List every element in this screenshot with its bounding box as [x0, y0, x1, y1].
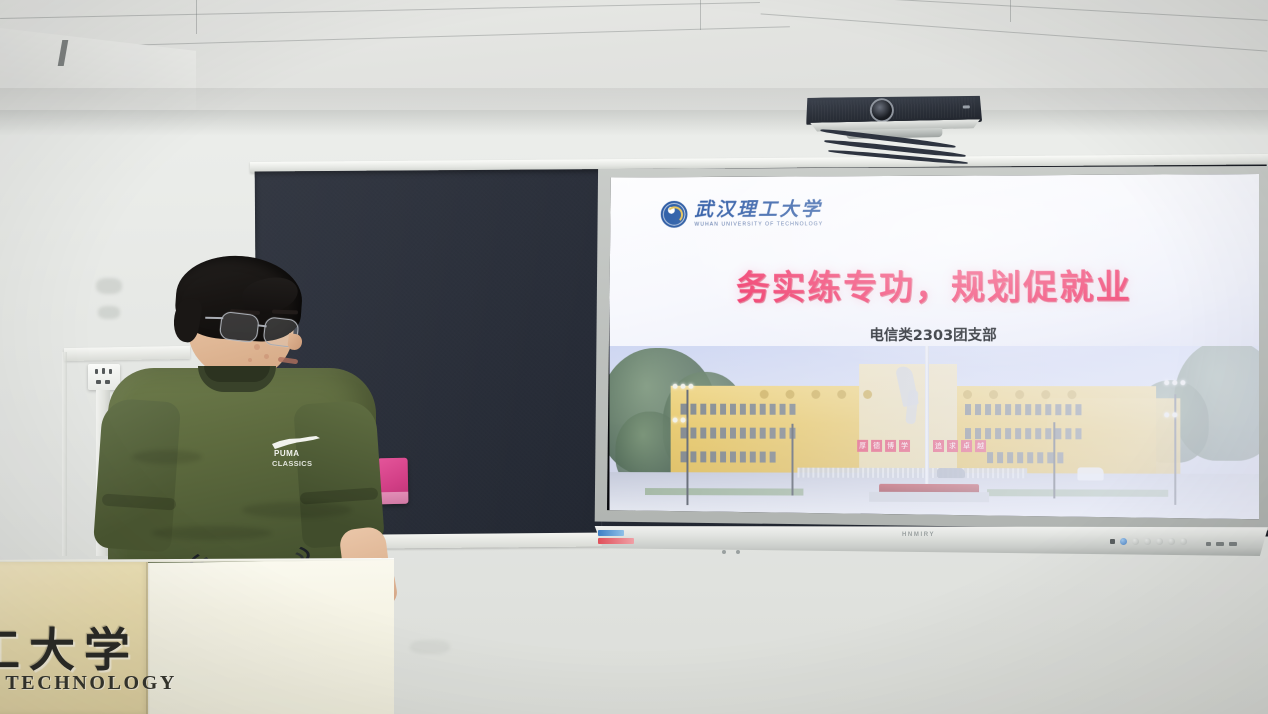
photo-window-row: [681, 451, 776, 462]
eyeglass-lens: [219, 311, 260, 343]
usb-port[interactable]: [1216, 542, 1224, 546]
photo-lamp-head: [1164, 380, 1185, 385]
campus-building-photo: 厚德博学 追求卓越: [610, 346, 1259, 519]
ceiling-grid-line: [761, 13, 1268, 51]
red-warranty-sticker: [598, 538, 634, 544]
ceiling-grid-line: [700, 0, 1267, 21]
fabric-fold: [132, 450, 202, 464]
lectern-plaque-chinese: 工大学: [0, 614, 139, 680]
puma-cat-icon: [272, 436, 320, 449]
lectern-plaque-english: F TECHNOLOGY: [0, 672, 177, 695]
photo-lamp-head: [673, 384, 694, 389]
photo-lamp-post: [791, 424, 793, 496]
ceiling-grid-line: [0, 2, 760, 19]
logo-chinese-name: 武汉理工大学: [694, 200, 823, 219]
photo-flag-base: [869, 492, 989, 502]
wall-trim-edge: [62, 352, 67, 556]
interactive-smart-display[interactable]: 武汉理工大学 WUHAN UNIVERSITY OF TECHNOLOGY 务实…: [592, 166, 1268, 558]
eyebrow: [272, 310, 298, 315]
slide-subtitle-org: 电信类2303团支部: [610, 324, 1259, 345]
speaker-grille: [812, 97, 976, 120]
photo-lamp-head: [673, 418, 686, 423]
photo-parked-car: [937, 468, 965, 478]
ceiling-grid-line: [196, 0, 197, 34]
puma-wordmark: PUMA: [274, 449, 300, 458]
shirt-collar-inner: [204, 366, 270, 382]
photo-facade-circles: [760, 390, 872, 399]
logo-english-name: WUHAN UNIVERSITY OF TECHNOLOGY: [694, 221, 823, 227]
photo-lawn: [987, 489, 1168, 497]
photo-balustrade: [797, 468, 1027, 479]
wall-top-shadow: [0, 110, 1268, 136]
eyeglass-bridge: [258, 324, 267, 327]
volume-down-button[interactable]: [1156, 538, 1163, 545]
photo-window-row: [987, 452, 1063, 463]
display-ports[interactable]: [1206, 542, 1237, 546]
source-button[interactable]: [1120, 538, 1127, 545]
wall-scuff: [410, 640, 450, 654]
bezel-screws: [722, 550, 740, 554]
display-screen[interactable]: 武汉理工大学 WUHAN UNIVERSITY OF TECHNOLOGY 务实…: [607, 174, 1259, 522]
skin-mark: [264, 354, 269, 359]
skin-mark: [254, 344, 260, 350]
hdmi-port[interactable]: [1229, 542, 1237, 546]
photo-window-row: [965, 404, 1081, 415]
right-sleeve: [293, 399, 385, 548]
presentation-slide: 武汉理工大学 WUHAN UNIVERSITY OF TECHNOLOGY 务实…: [610, 174, 1259, 522]
fabric-fold: [152, 526, 272, 540]
photo-lamp-post: [1053, 422, 1055, 498]
menu-button[interactable]: [1132, 538, 1139, 545]
channel-down-button[interactable]: [1180, 538, 1187, 545]
photo-banner-right: 追求卓越: [933, 440, 986, 452]
ceiling-grid-line: [700, 0, 701, 30]
slide-title: 务实练专功，规划促就业: [610, 259, 1259, 309]
photo-window-row: [965, 428, 1081, 439]
photo-banner-left: 厚德博学: [857, 440, 910, 452]
eyeglass-temple: [205, 317, 223, 319]
photo-parked-car: [1077, 467, 1103, 480]
blue-asset-sticker: [598, 530, 624, 536]
photo-lamp-post: [686, 390, 688, 505]
display-asset-stickers: [598, 530, 634, 544]
classroom-photo-scene: 武汉理工大学 WUHAN UNIVERSITY OF TECHNOLOGY 务实…: [0, 0, 1268, 714]
ceiling-grid-line: [1010, 0, 1011, 22]
photo-facade-circles: [963, 390, 1076, 399]
volume-up-button[interactable]: [1144, 538, 1151, 545]
status-led-icon: [963, 105, 970, 108]
display-control-buttons[interactable]: [1110, 538, 1187, 545]
puma-brand-logo: PUMA CLASSICS: [270, 436, 322, 452]
power-button[interactable]: [1110, 539, 1115, 544]
channel-up-button[interactable]: [1168, 538, 1175, 545]
photo-window-row: [681, 404, 796, 415]
usb-port[interactable]: [1206, 542, 1211, 546]
puma-sub-wordmark: CLASSICS: [272, 459, 312, 468]
skin-mark: [248, 358, 252, 362]
photo-flagpole: [925, 346, 929, 492]
fabric-fold: [242, 502, 352, 518]
university-logo: 武汉理工大学 WUHAN UNIVERSITY OF TECHNOLOGY: [661, 200, 823, 227]
photo-lawn: [645, 488, 803, 495]
presenter: PUMA CLASSICS: [92, 250, 402, 580]
photo-lamp-post: [1174, 394, 1176, 505]
photo-window-row: [681, 428, 796, 439]
photo-lamp-head: [1164, 412, 1177, 417]
display-brand-label: HNMIRY: [902, 532, 935, 538]
university-seal-icon: [661, 201, 688, 228]
